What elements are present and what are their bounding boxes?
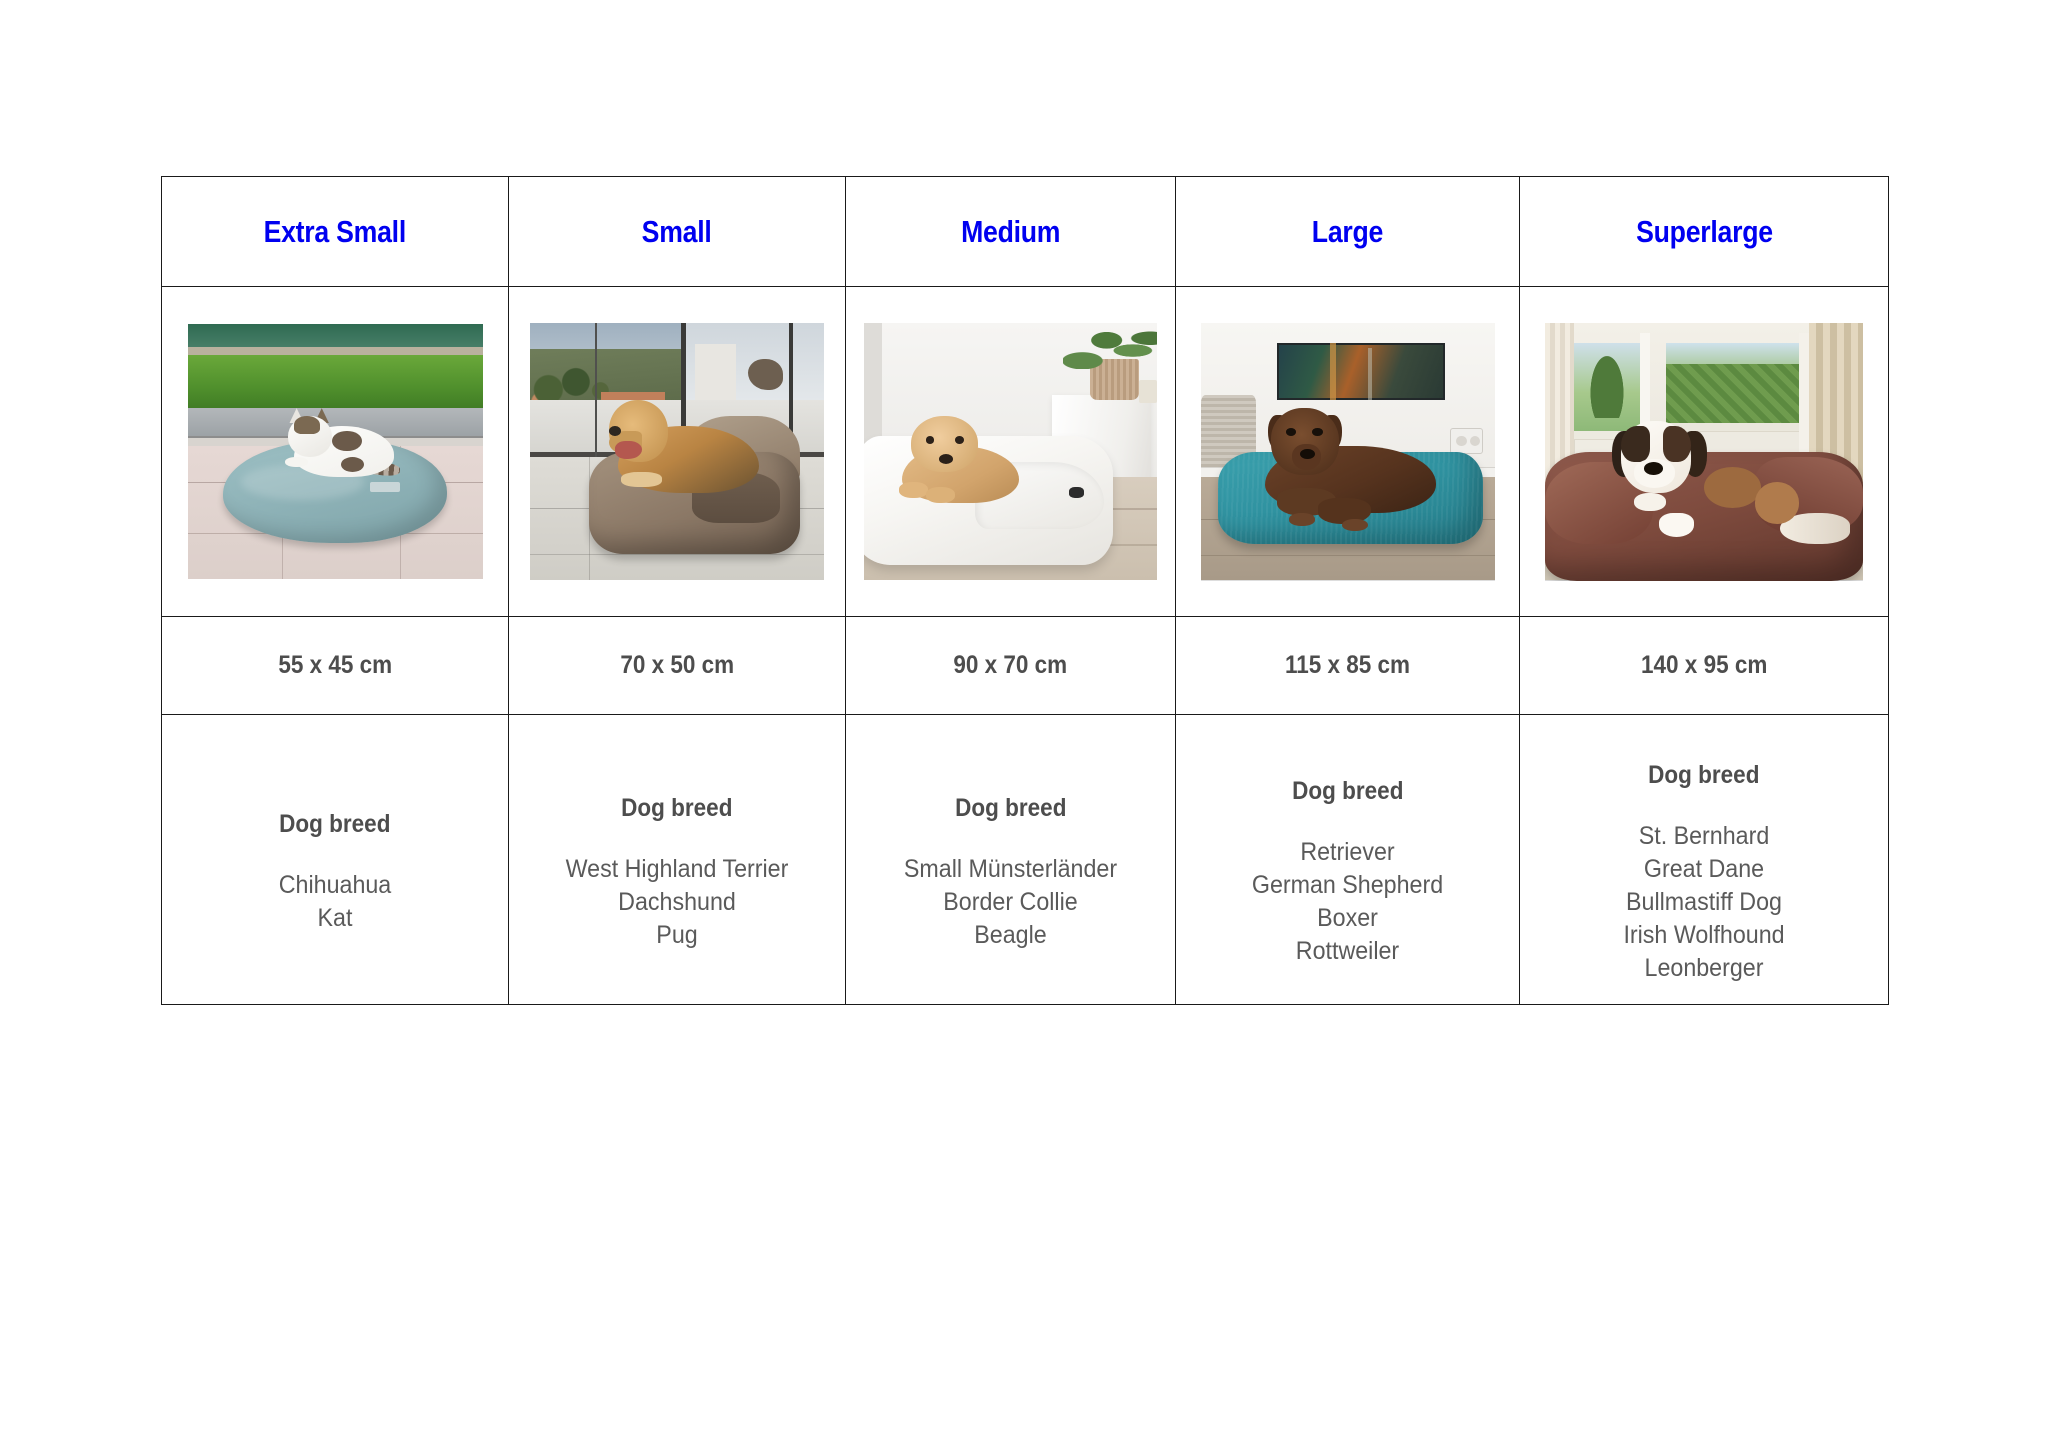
photo-cell-extra-small [162,287,509,617]
photo-cell-medium [846,287,1176,617]
dog-nose [1644,462,1663,475]
dog-face-mask-marking [1621,426,1650,462]
wall-artwork [1277,343,1445,400]
breed-item: Rottweiler [1188,935,1507,968]
dog-coat-patch [1755,482,1800,523]
zipper-pull [1069,487,1084,497]
breed-item: Border Collie [858,886,1164,919]
dog-eye [1312,428,1322,436]
green-houseplant [1063,328,1157,369]
breed-item: St. Bernhard [1533,820,1875,853]
window-mullion [595,323,597,477]
dog-breed-row: Dog breed Chihuahua Kat Dog breed West H… [162,715,1889,1005]
dog-bed-size-table: Extra Small Small Medium Large Superlarg… [161,176,1889,1005]
breed-title-large: Dog breed [1292,777,1403,806]
dimensions-superlarge: 140 x 95 cm [1641,651,1767,680]
size-label-superlarge: Superlarge [1636,216,1773,247]
dog-paw [926,487,955,502]
breed-cell-medium: Dog breed Small Münsterländer Border Col… [846,715,1176,1005]
garden-hedge [1666,364,1803,426]
photo-wrap-medium [846,323,1175,580]
photo-wrap-large [1176,323,1519,581]
breed-item: Dachshund [521,886,833,919]
breed-block-superlarge: Dog breed St. Bernhard Great Dane Bullma… [1520,735,1888,985]
header-cell-large: Large [1176,177,1520,287]
breed-list-medium: Small Münsterländer Border Collie Beagle [846,853,1175,952]
breed-item: Retriever [1188,836,1507,869]
breed-list-extra-small: Chihuahua Kat [162,869,508,935]
window-sky [188,324,483,350]
breed-list-superlarge: St. Bernhard Great Dane Bullmastiff Dog … [1520,820,1888,985]
dog-eye [1286,428,1296,436]
dimensions-large: 115 x 85 cm [1285,651,1410,680]
photo-cell-superlarge [1520,287,1889,617]
dimensions-extra-small: 55 x 45 cm [278,651,392,680]
dimensions-cell-medium: 90 x 70 cm [846,617,1176,715]
breed-item: Boxer [1188,902,1507,935]
size-header-row: Extra Small Small Medium Large Superlarg… [162,177,1889,287]
header-cell-small: Small [509,177,846,287]
breed-block-extra-small: Dog breed Chihuahua Kat [162,784,508,935]
breed-item: Beagle [858,919,1164,952]
cat-paw [285,457,309,467]
photo-wrap-superlarge [1520,323,1888,581]
dog-paw [1289,513,1315,526]
breed-item: Pug [521,919,833,952]
dog-paw [899,482,928,497]
breed-title-extra-small: Dog breed [279,810,390,839]
dimensions-cell-extra-small: 55 x 45 cm [162,617,509,715]
header-cell-superlarge: Superlarge [1520,177,1889,287]
exterior-wall [695,344,736,401]
size-label-medium: Medium [961,216,1060,247]
photo-cat-on-light-blue-dog-bed [188,324,483,579]
breed-block-medium: Dog breed Small Münsterländer Border Col… [846,768,1175,952]
breed-item: West Highland Terrier [521,853,833,886]
breed-item: Chihuahua [174,869,496,902]
cat-spot [332,431,362,451]
photo-wrap-small [509,323,845,580]
breed-cell-extra-small: Dog breed Chihuahua Kat [162,715,509,1005]
dimensions-medium: 90 x 70 cm [954,651,1068,680]
product-photo-row [162,287,1889,617]
header-cell-medium: Medium [846,177,1176,287]
breed-title-medium: Dog breed [955,794,1066,823]
breed-item: Leonberger [1533,952,1875,985]
dimensions-small: 70 x 50 cm [620,651,734,680]
dimensions-cell-small: 70 x 50 cm [509,617,846,715]
photo-cell-large [1176,287,1520,617]
artwork-detail [1330,343,1336,400]
socket-outlet [1470,436,1480,446]
breed-item: Bullmastiff Dog [1533,886,1875,919]
dog-eye [955,436,964,444]
page-canvas: Extra Small Small Medium Large Superlarg… [0,0,2048,1448]
breed-list-large: Retriever German Shepherd Boxer Rottweil… [1176,836,1519,968]
dog-paw [1659,513,1694,536]
floor-plank-line [1201,555,1495,557]
dog-front-legs [621,472,662,487]
photo-st-bernard-on-brown-leather-dog-bed [1545,323,1863,581]
dimensions-row: 55 x 45 cm 70 x 50 cm 90 x 70 cm 115 x 8… [162,617,1889,715]
dog-eye [926,436,935,444]
breed-cell-superlarge: Dog breed St. Bernhard Great Dane Bullma… [1520,715,1889,1005]
decor-jar [1139,380,1157,403]
brand-label-tag [370,482,400,492]
breed-item: Great Dane [1533,853,1875,886]
photo-cell-small [509,287,846,617]
breed-item: Irish Wolfhound [1533,919,1875,952]
artwork-detail [1368,348,1372,400]
size-label-extra-small: Extra Small [264,216,406,247]
breed-block-large: Dog breed Retriever German Shepherd Boxe… [1176,751,1519,968]
breed-block-small: Dog breed West Highland Terrier Dachshun… [509,768,845,952]
photo-terrier-on-brown-leather-dog-sofa [530,323,824,580]
garden-grass [188,355,483,411]
photo-wrap-extra-small [162,324,508,579]
garden-tree [1586,346,1627,418]
tile-grout-line [530,554,824,555]
dimensions-cell-superlarge: 140 x 95 cm [1520,617,1889,715]
size-label-small: Small [642,216,712,247]
dimensions-cell-large: 115 x 85 cm [1176,617,1520,715]
cat-face-marking [294,416,321,434]
breed-list-small: West Highland Terrier Dachshund Pug [509,853,845,952]
photo-chocolate-labrador-on-teal-dog-bed [1201,323,1495,581]
breed-item: German Shepherd [1188,869,1507,902]
size-label-large: Large [1312,216,1383,247]
photo-cockapoo-on-white-dog-bed [864,323,1157,580]
cat-spot [341,457,365,472]
breed-cell-small: Dog breed West Highland Terrier Dachshun… [509,715,846,1005]
breed-title-superlarge: Dog breed [1648,761,1759,790]
socket-outlet [1456,436,1466,446]
header-cell-extra-small: Extra Small [162,177,509,287]
breed-title-small: Dog breed [621,794,732,823]
breed-item: Kat [174,902,496,935]
dog-paw [1634,493,1666,511]
breed-cell-large: Dog breed Retriever German Shepherd Boxe… [1176,715,1520,1005]
breed-item: Small Münsterländer [858,853,1164,886]
